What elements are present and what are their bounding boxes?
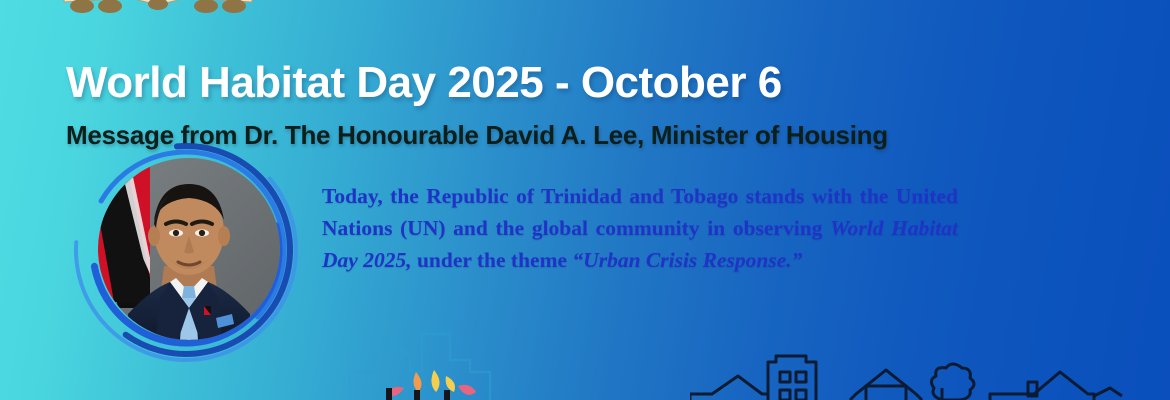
housing-skyline-illustration — [690, 338, 1170, 400]
message-emphasis-theme: “Urban Crisis Response.” — [572, 248, 802, 272]
minister-headshot-photo — [98, 158, 280, 340]
minister-portrait — [72, 136, 300, 364]
message-part-2: under the theme — [412, 248, 573, 272]
un-habitat-logo-icon — [330, 328, 630, 400]
world-habitat-day-banner: TOGETHER WE ASPIRE TOGETHER WE ACHIEVE W… — [0, 0, 1170, 400]
minister-message-text: Today, the Republic of Trinidad and Toba… — [322, 180, 958, 276]
trinidad-tobago-coat-of-arms-icon: TOGETHER WE ASPIRE TOGETHER WE ACHIEVE — [58, 0, 258, 22]
page-title: World Habitat Day 2025 - October 6 — [66, 60, 782, 106]
habitat-petals-icon — [386, 370, 476, 396]
